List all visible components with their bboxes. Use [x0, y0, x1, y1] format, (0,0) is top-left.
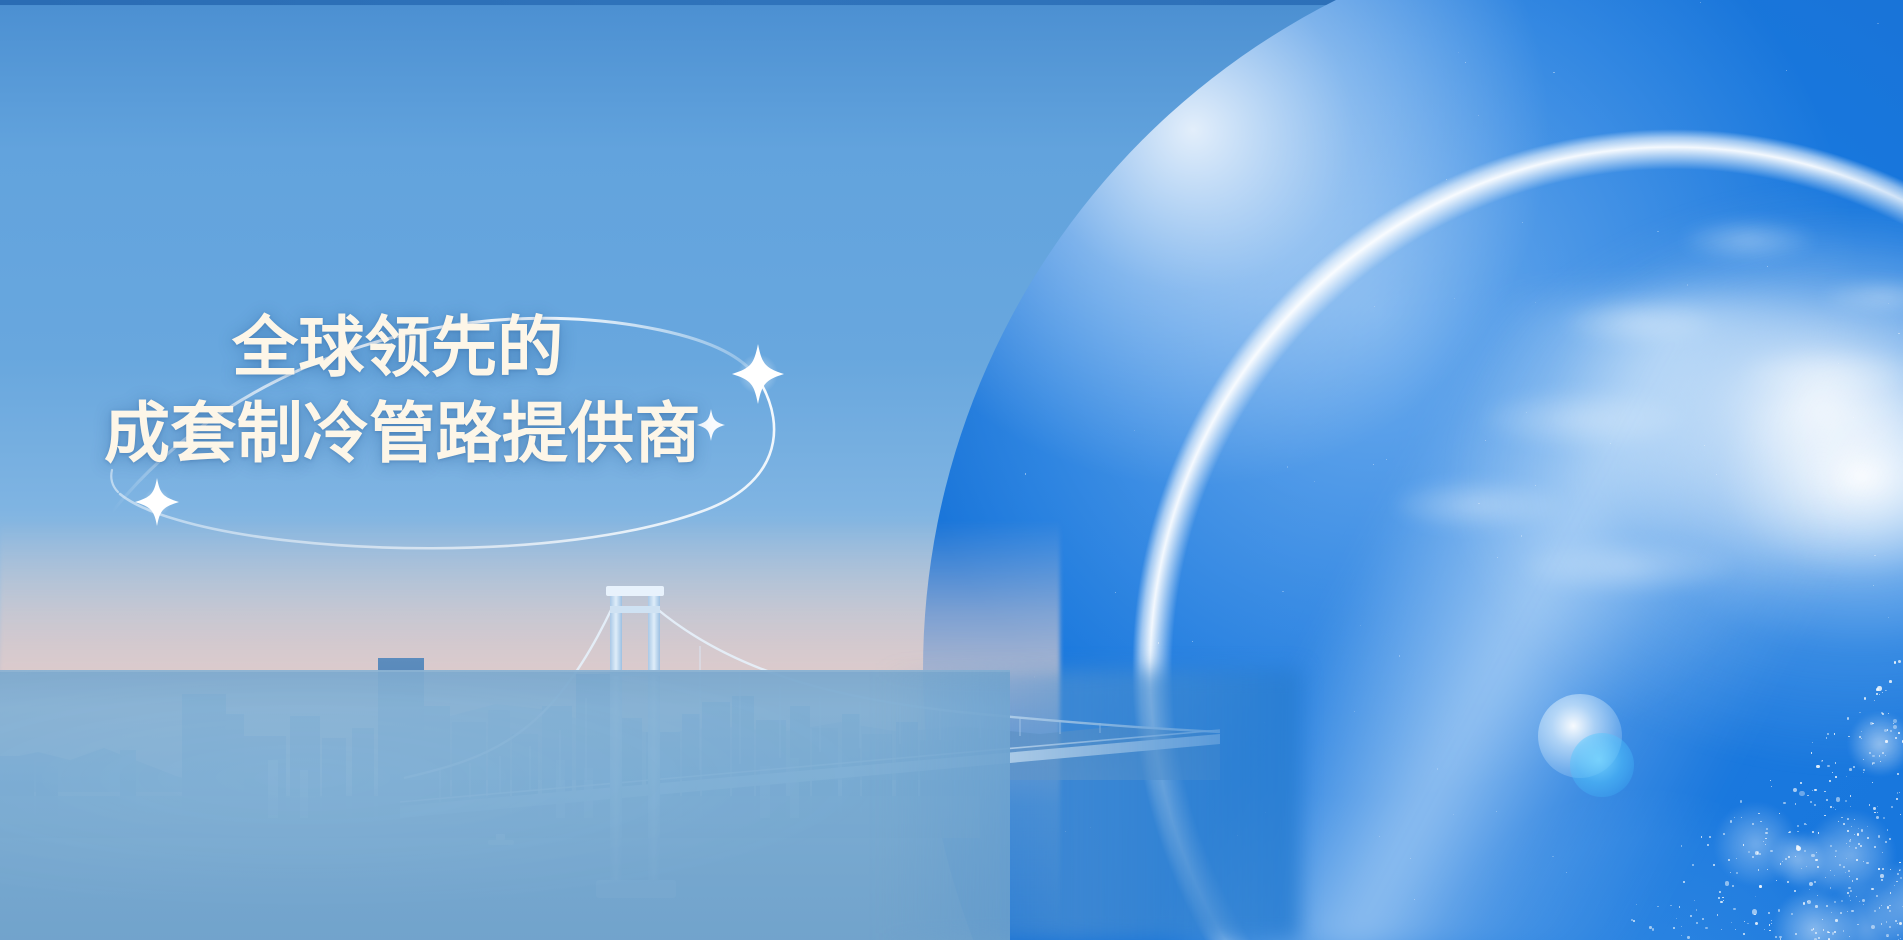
hero-banner: 全球领先的 成套制冷管路提供商: [0, 0, 1903, 940]
page-title: 全球领先的 成套制冷管路提供商: [104, 308, 701, 472]
headline-line-1: 全球领先的: [232, 308, 701, 386]
sea-water-blend: [880, 670, 1300, 940]
sea-water: [0, 670, 1010, 940]
headline-line-2: 成套制冷管路提供商: [104, 394, 701, 472]
